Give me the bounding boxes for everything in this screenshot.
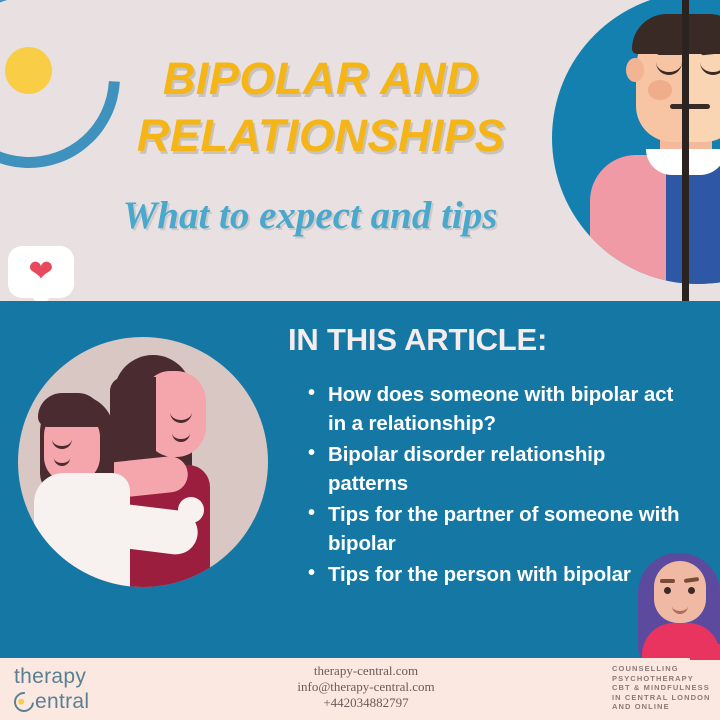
split-face-illustration <box>552 0 720 284</box>
face-brow-left <box>656 48 684 55</box>
website-link[interactable]: therapy-central.com <box>246 663 486 679</box>
logo-line-1: therapy <box>14 664 89 689</box>
face-mouth <box>670 104 710 109</box>
phone-number[interactable]: +442034882797 <box>246 695 486 711</box>
page-title-line2: RELATIONSHIPS <box>96 107 546 164</box>
list-item: Tips for the person with bipolar <box>306 560 684 589</box>
list-item: Bipolar disorder relationship patterns <box>306 440 684 498</box>
hug-person-a-fringe <box>38 393 102 427</box>
hug-person-a-hand <box>178 497 204 523</box>
page-title-line1: BIPOLAR AND <box>96 50 546 107</box>
tagline-line: CBT & MINDFULNESS <box>612 683 711 693</box>
couple-hugging-illustration <box>18 337 268 587</box>
article-heading: IN THIS ARTICLE: <box>288 322 547 358</box>
face-ear <box>626 58 644 82</box>
pink-accent-stripe <box>690 644 720 660</box>
page-subtitle: What to expect and tips <box>60 193 560 238</box>
article-topics-list: How does someone with bipolar act in a r… <box>306 380 684 591</box>
email-link[interactable]: info@therapy-central.com <box>246 679 486 695</box>
page-title: BIPOLAR AND RELATIONSHIPS <box>96 50 546 164</box>
tagline-line: PSYCHOTHERAPY <box>612 674 711 684</box>
logo-line-2-text: entral <box>35 689 89 714</box>
list-item: How does someone with bipolar act in a r… <box>306 380 684 438</box>
therapy-central-logo: therapy entral <box>14 664 89 714</box>
footer-section: therapy entral therapy-central.com info@… <box>0 658 720 720</box>
infographic-poster: BIPOLAR AND RELATIONSHIPS What to expect… <box>0 0 720 720</box>
brand-dot-icon <box>5 47 52 94</box>
heart-icon: ❤ <box>28 257 53 287</box>
tagline-line: IN CENTRAL LONDON <box>612 693 711 703</box>
woman-eye-right <box>688 587 695 594</box>
face-cheek <box>648 80 672 100</box>
logo-line-2: entral <box>14 689 89 714</box>
contact-details: therapy-central.com info@therapy-central… <box>246 663 486 711</box>
heart-badge: ❤ <box>8 246 74 298</box>
face-split-divider <box>682 0 689 301</box>
tagline-line: AND ONLINE <box>612 702 711 712</box>
services-tagline: COUNSELLING PSYCHOTHERAPY CBT & MINDFULN… <box>612 664 711 712</box>
logo-c-icon <box>10 687 38 715</box>
header-section: BIPOLAR AND RELATIONSHIPS What to expect… <box>0 0 720 301</box>
list-item: Tips for the partner of someone with bip… <box>306 500 684 558</box>
tagline-line: COUNSELLING <box>612 664 711 674</box>
face-body-left <box>590 155 666 284</box>
